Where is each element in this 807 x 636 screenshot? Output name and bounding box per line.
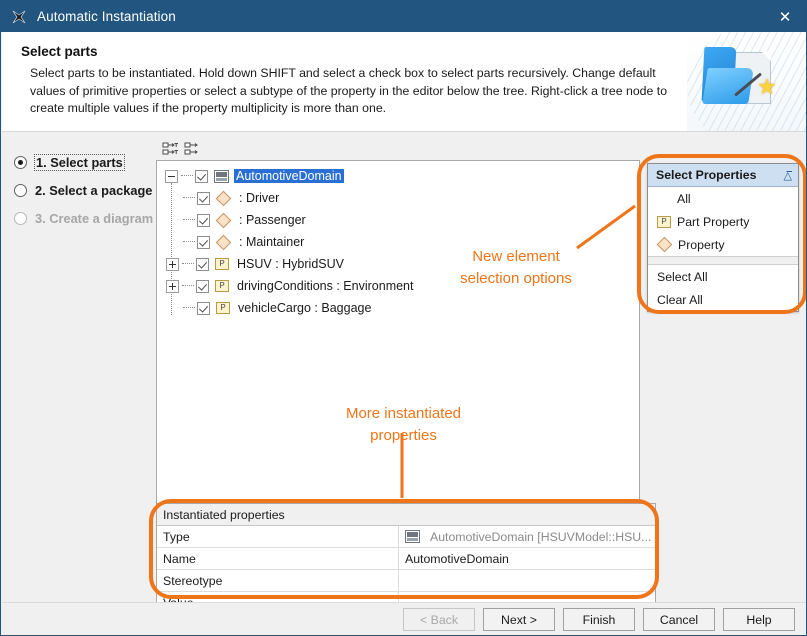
tree-node-label: : Driver [237,191,281,205]
tree-connector [183,241,195,243]
tree-connector [183,197,195,199]
row-checkbox[interactable] [197,214,210,227]
row-checkbox[interactable] [196,258,209,271]
menu-item-property[interactable]: Property [648,233,798,256]
part-property-icon: P [215,258,229,270]
property-value-cell[interactable] [399,570,655,591]
collapse-all-icon[interactable] [182,140,204,158]
menu-item-all[interactable]: All [648,187,798,210]
sidebar-item-select-parts[interactable]: 1. Select parts [14,148,154,176]
menu-divider [648,256,798,265]
radio-icon [14,212,27,225]
page-description: Select parts to be instantiated. Hold do… [30,65,690,118]
menu-item-label: Select All [657,270,708,284]
tree-node-label: : Passenger [237,213,308,227]
expand-node-icon[interactable] [166,280,179,293]
row-checkbox[interactable] [197,192,210,205]
clear-all-button[interactable]: Clear All [648,288,798,311]
automatic-instantiation-dialog: Automatic Instantiation ✕ Select parts S… [0,0,807,636]
menu-item-label: All [677,192,691,206]
help-button[interactable]: Help [723,608,795,631]
folder-document-wand-icon: ★ [687,32,807,131]
window-title: Automatic Instantiation [37,9,176,24]
tree-node-label: drivingConditions : Environment [235,279,415,293]
back-button: < Back [403,608,475,631]
tree-node-label: : Maintainer [237,235,306,249]
tree-node-label: HSUV : HybridSUV [235,257,346,271]
tree-connector [182,263,194,265]
table-row[interactable]: Stereotype [157,570,655,592]
sidebar-item-create-a-diagram: 3. Create a diagram [14,204,154,232]
chevron-up-icon[interactable]: △̅ [784,169,792,182]
tree-connector [183,219,195,221]
part-property-icon: P [657,216,671,228]
app-icon [11,9,27,25]
dialog-body: 1. Select parts 2. Select a package 3. C… [2,131,807,603]
property-value-cell[interactable]: AutomotiveDomain [399,548,655,569]
instantiated-properties-title: Instantiated properties [157,504,655,526]
sidebar-item-select-a-package[interactable]: 2. Select a package [14,176,154,204]
table-row[interactable]: P vehicleCargo : Baggage [157,297,639,319]
tree-node-label: vehicleCargo : Baggage [236,301,373,315]
row-checkbox[interactable] [196,280,209,293]
select-properties-panel[interactable]: Select Properties △̅ All P Part Property… [647,163,799,312]
select-all-button[interactable]: Select All [648,265,798,288]
tree-toolbar [156,137,644,161]
select-properties-title: Select Properties [656,168,756,182]
cancel-button[interactable]: Cancel [643,608,715,631]
property-value: AutomotiveDomain [HSUVModel::HSU... [430,530,651,544]
menu-item-label: Property [678,238,724,252]
tree-connector [183,307,195,309]
property-value-cell[interactable]: AutomotiveDomain [HSUVModel::HSU... [399,526,655,547]
table-row[interactable]: : Driver [157,187,639,209]
annotation-label-new-element: New element selection options [426,246,606,290]
collapse-node-icon[interactable] [165,170,178,183]
next-button[interactable]: Next > [483,608,555,631]
table-row[interactable]: Name AutomotiveDomain [157,548,655,570]
parts-tree[interactable]: AutomotiveDomain : Driver : Passenger [156,160,640,525]
step-label: 2. Select a package [35,183,152,198]
property-value: AutomotiveDomain [405,552,509,566]
step-label: 3. Create a diagram [35,211,153,226]
tree-connector [181,175,193,177]
menu-item-part-property[interactable]: P Part Property [648,210,798,233]
part-property-icon: P [215,280,229,292]
table-row[interactable]: Type AutomotiveDomain [HSUVModel::HSU... [157,526,655,548]
tree-connector [182,285,194,287]
domain-icon [214,170,229,183]
row-checkbox[interactable] [197,302,210,315]
property-key: Name [157,548,399,569]
property-icon [216,190,232,206]
property-icon [216,234,232,250]
menu-item-label: Clear All [657,293,703,307]
row-checkbox[interactable] [197,236,210,249]
step-label: 1. Select parts [35,155,124,170]
close-icon[interactable]: ✕ [762,1,807,32]
table-row[interactable]: : Passenger [157,209,639,231]
part-property-icon: P [216,302,230,314]
expand-node-icon[interactable] [166,258,179,271]
menu-item-label: Part Property [677,215,749,229]
wizard-steps: 1. Select parts 2. Select a package 3. C… [14,148,154,232]
radio-icon [14,156,27,169]
window-titlebar: Automatic Instantiation ✕ [1,1,807,32]
property-icon [216,212,232,228]
page-title: Select parts [21,44,98,59]
radio-icon [14,184,27,197]
property-key: Type [157,526,399,547]
property-icon [657,237,673,253]
instantiated-properties-panel: Instantiated properties Type AutomotiveD… [156,503,656,614]
tree-node-label: AutomotiveDomain [234,169,344,183]
table-row[interactable]: AutomotiveDomain [157,165,639,187]
finish-button[interactable]: Finish [563,608,635,631]
dialog-footer: < Back Next > Finish Cancel Help [2,602,807,636]
dialog-header: Select parts Select parts to be instanti… [2,32,807,131]
annotation-label-more-properties: More instantiated properties [301,403,506,447]
row-checkbox[interactable] [195,170,208,183]
property-key: Stereotype [157,570,399,591]
select-properties-header: Select Properties △̅ [648,164,798,187]
domain-icon [405,530,420,543]
expand-all-icon[interactable] [160,140,182,158]
